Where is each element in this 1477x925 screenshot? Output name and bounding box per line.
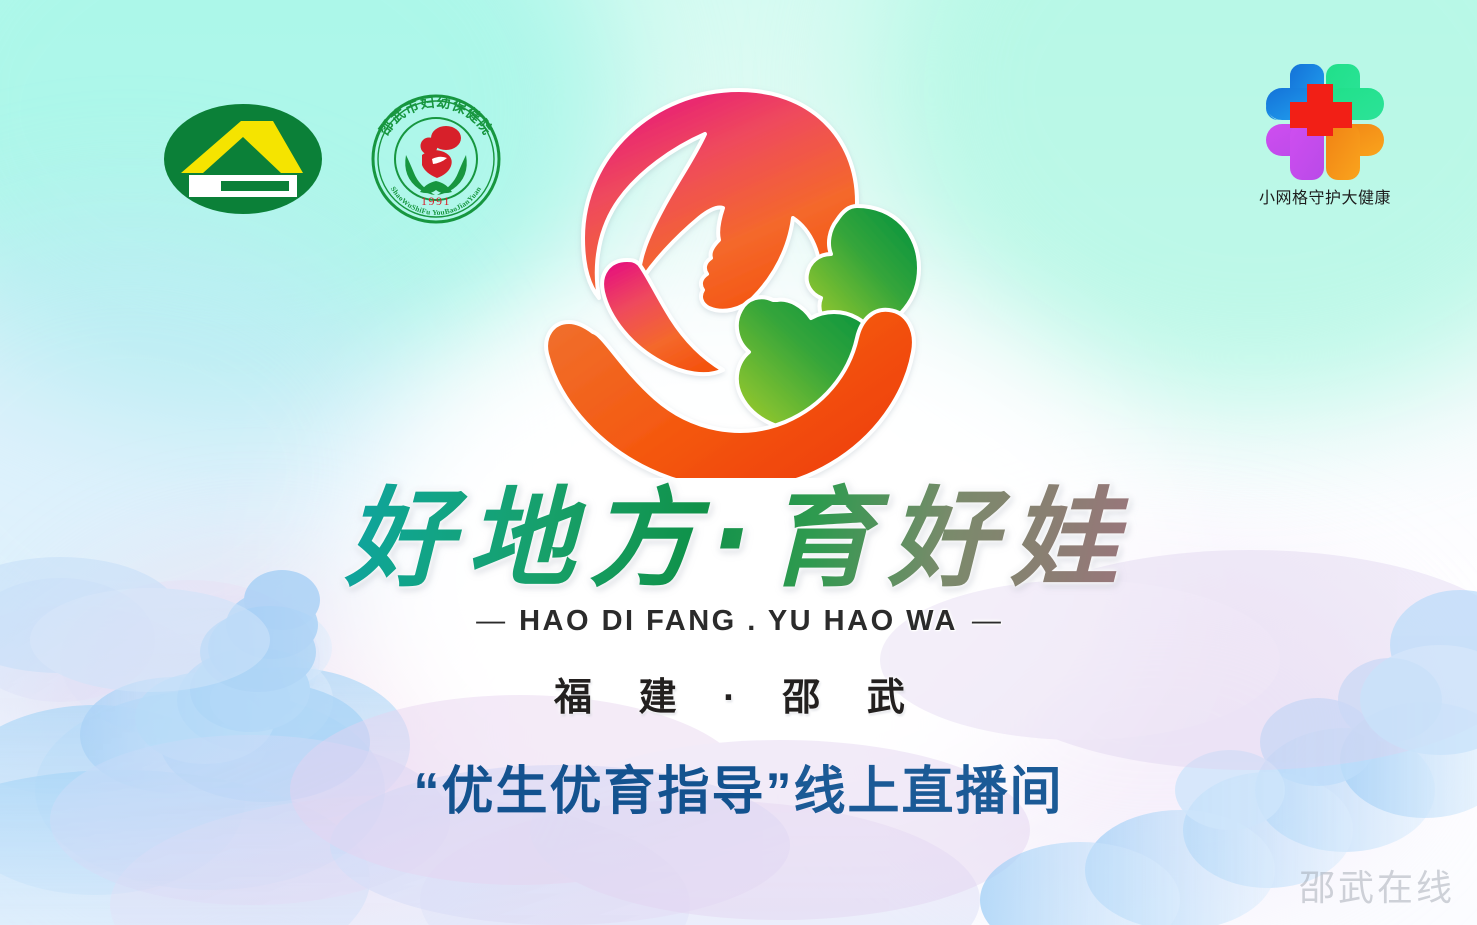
watermark: 邵武在线 [1299,859,1455,911]
pinwheel-caption: 小网格守护大健康 [1259,188,1391,207]
live-room-label: 线上直播间 [794,763,1064,821]
pinyin-text: HAO DI FANG . YU HAO WA [519,605,958,637]
mother-and-baby-emblem [527,78,957,478]
poster-canvas: 1991 邵武市妇幼保健院 ShaoWuShiFu YouBaoJianYuan [0,0,1477,925]
headline-block: 好地方·育好娃 —HAO DI FANG . YU HAO WA— 福 建 · … [0,482,1477,824]
live-topic: 优生优育指导 [441,763,765,821]
title-pinyin: —HAO DI FANG . YU HAO WA— [0,605,1477,638]
health-grid-pinwheel-logo: 小网格守护大健康 [1244,40,1406,220]
quote-close: ” [766,763,794,821]
pinyin-dash-right: — [958,605,1015,637]
quote-open: “ [413,763,441,821]
svg-text:1991: 1991 [421,194,451,208]
region-subtitle: 福 建 · 邵 武 [0,666,1477,721]
pinyin-dash-left: — [462,605,519,637]
hospital-seal-logo: 1991 邵武市妇幼保健院 ShaoWuShiFu YouBaoJianYuan [362,93,510,225]
green-oval-emblem [163,103,323,215]
live-room-subtitle: “优生优育指导”线上直播间 [0,749,1477,824]
page-title: 好地方·育好娃 [0,482,1477,599]
